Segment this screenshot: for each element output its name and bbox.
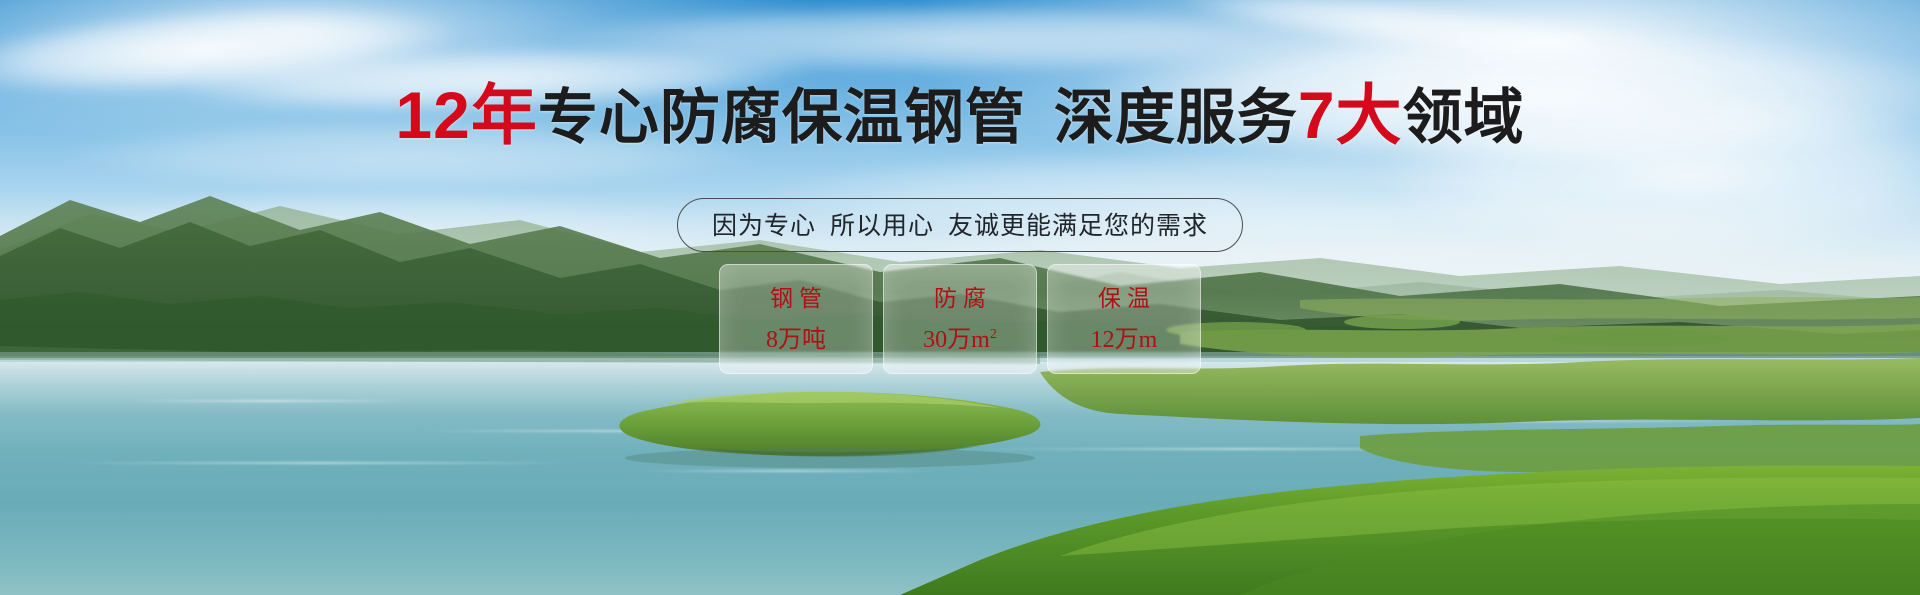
- stat-superscript: 2: [990, 327, 997, 342]
- headline-years: 12年: [395, 78, 537, 152]
- slogan-segment-2: 所以用心: [830, 212, 934, 240]
- banner-content: 12年专心防腐保温钢管深度服务7大领域 因为专心所以用心友诚更能满足您的需求 钢…: [0, 0, 1920, 595]
- slogan-pill: 因为专心所以用心友诚更能满足您的需求: [677, 198, 1243, 252]
- slogan-segment-3: 友诚更能满足您的需求: [948, 212, 1208, 240]
- stat-number: 30: [923, 327, 947, 353]
- stat-value: 12万m: [1091, 328, 1158, 352]
- stats-card-group: 钢管 8万吨 防腐 30万m2 保温 12万m: [719, 264, 1201, 374]
- stat-title: 防腐: [928, 287, 992, 310]
- stat-title: 保温: [1092, 287, 1156, 310]
- headline-main: 专心防腐保温钢管: [538, 84, 1026, 151]
- stat-unit: 万吨: [778, 327, 826, 353]
- stat-card-steel-pipe[interactable]: 钢管 8万吨: [719, 264, 873, 374]
- stat-number: 8: [766, 327, 778, 353]
- stat-value: 8万吨: [766, 328, 826, 352]
- stat-value: 30万m2: [923, 328, 997, 352]
- page-title: 12年专心防腐保温钢管深度服务7大领域: [0, 82, 1920, 148]
- stat-number: 12: [1091, 327, 1115, 353]
- headline-fields: 领域: [1403, 84, 1525, 151]
- stat-unit: 万m: [947, 327, 990, 353]
- headline-fields-count: 7大: [1298, 78, 1403, 152]
- hero-banner: 12年专心防腐保温钢管深度服务7大领域 因为专心所以用心友诚更能满足您的需求 钢…: [0, 0, 1920, 595]
- headline-service: 深度服务: [1054, 84, 1298, 151]
- stat-card-insulation[interactable]: 保温 12万m: [1047, 264, 1201, 374]
- stat-unit: 万m: [1115, 327, 1158, 353]
- stat-title: 钢管: [764, 287, 828, 310]
- slogan-segment-1: 因为专心: [712, 212, 816, 240]
- stat-card-anticorrosion[interactable]: 防腐 30万m2: [883, 264, 1037, 374]
